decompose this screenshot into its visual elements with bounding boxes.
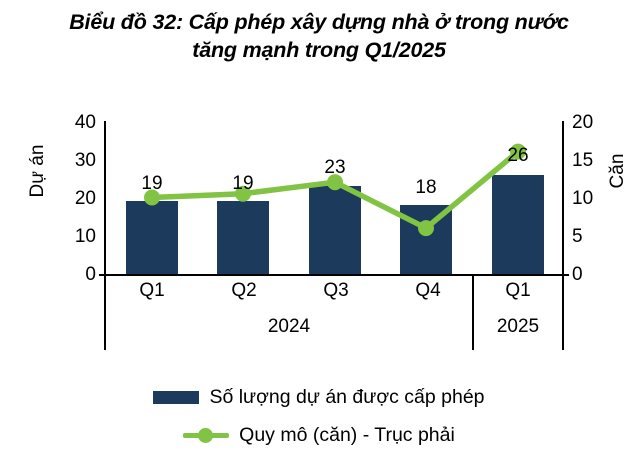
bar-label-q1-2024: 19 [122,174,182,194]
bar-label-q4-2024: 18 [396,178,456,198]
category-axis-quarters: Q1 Q2 Q3 Q4 Q1 [104,276,564,310]
plot-area: 19 19 23 18 26 [106,121,564,274]
right-tick-10: 10 [572,189,593,209]
category-label-q1-2024: Q1 [106,278,198,304]
legend-bar-swatch-icon [153,391,199,404]
chart-container: Biểu đồ 32: Cấp phép xây dựng nhà ở tron… [0,0,638,464]
line-series-quy-mo [106,121,564,274]
left-axis-ticks: 40 30 20 10 0 [58,113,96,283]
legend-item-line[interactable]: Quy mô (căn) - Trục phải [0,416,638,454]
right-tick-5: 5 [572,227,583,247]
right-axis-title: Căn [607,111,629,231]
left-tick-30: 30 [75,151,96,171]
bar-label-q1-2025: 26 [488,146,548,166]
year-group-separator [472,310,474,350]
right-tick-0: 0 [572,265,583,285]
right-axis-ticks: 20 15 10 5 0 [572,113,610,283]
bar-label-q2-2024: 19 [213,174,273,194]
right-axis-tick-mark-0 [564,274,569,276]
right-tick-15: 15 [572,151,593,171]
legend-line-marker-icon [198,428,213,443]
legend-label-bars: Số lượng dự án được cấp phép [209,386,484,409]
category-axis-years: 2024 2025 [104,310,564,350]
chart-legend: Số lượng dự án được cấp phép Quy mô (căn… [0,378,638,454]
left-tick-40: 40 [75,113,96,133]
year-label-2024: 2024 [106,314,472,340]
left-axis-title: Dự án [27,111,49,231]
right-tick-20: 20 [572,113,593,133]
bar-label-q3-2024: 23 [305,158,365,178]
left-tick-0: 0 [85,265,96,285]
category-label-q1-2025: Q1 [472,278,564,304]
category-label-q4-2024: Q4 [382,278,474,304]
legend-label-line: Quy mô (căn) - Trục phải [239,424,455,447]
line-marker-q4-2024[interactable] [418,220,434,236]
category-group-separator [472,276,474,310]
category-label-q2-2024: Q2 [198,278,290,304]
category-label-q3-2024: Q3 [290,278,382,304]
left-tick-10: 10 [75,227,96,247]
year-label-2025: 2025 [472,314,564,340]
left-tick-20: 20 [75,189,96,209]
legend-line-swatch-icon [183,427,229,443]
legend-item-bars[interactable]: Số lượng dự án được cấp phép [0,378,638,416]
